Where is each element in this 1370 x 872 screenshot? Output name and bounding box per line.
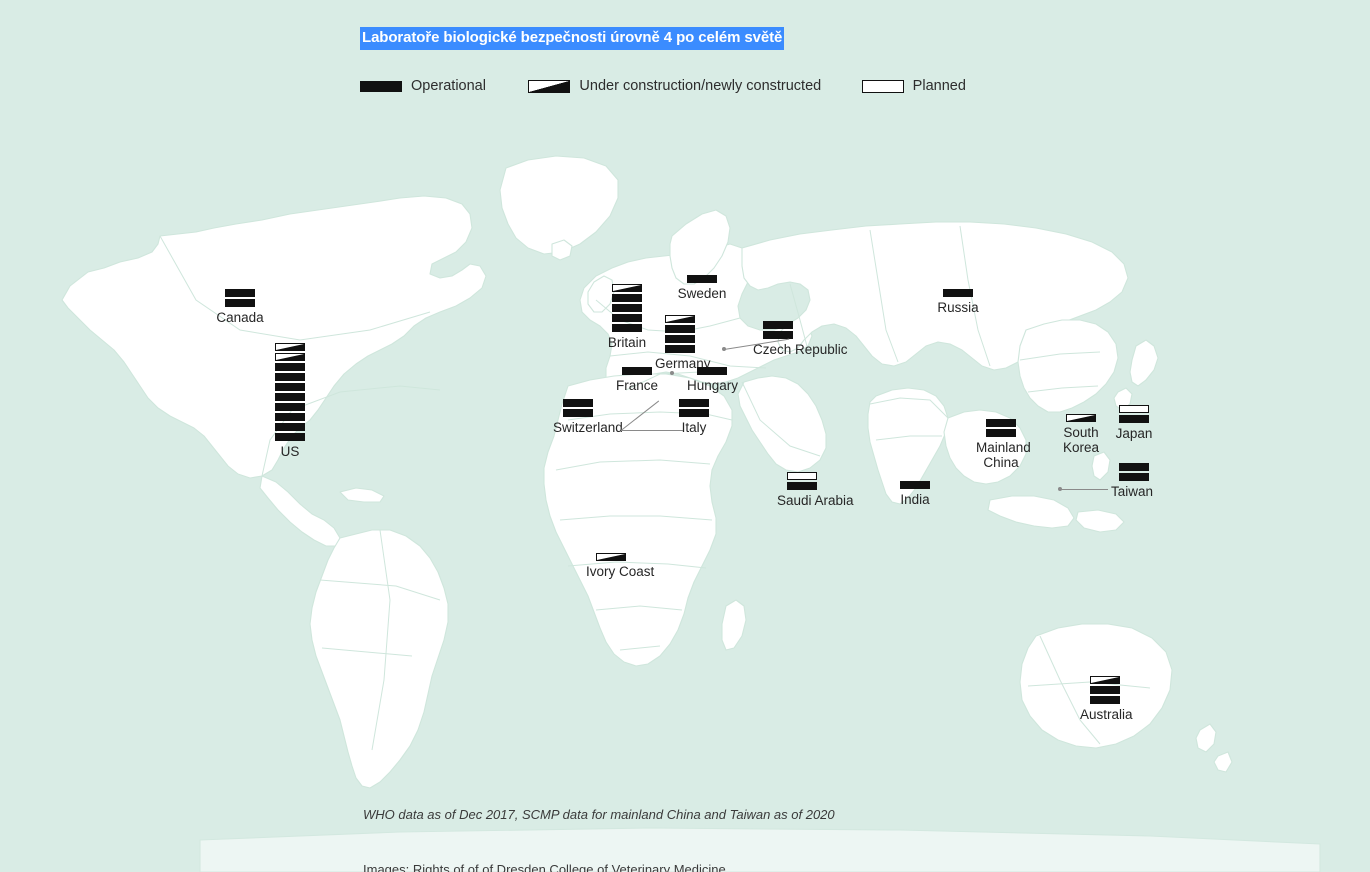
legend-item-operational: Operational	[360, 76, 486, 96]
bar-under-construction	[1066, 414, 1096, 422]
bar-operational	[665, 335, 695, 343]
marker-taiwan-label-wrap: Taiwan	[1111, 481, 1153, 499]
marker-label-czech-republic: Czech Republic	[753, 342, 803, 357]
marker-germany[interactable]: Germany	[655, 315, 705, 371]
bar-operational	[275, 433, 305, 441]
legend: Operational Under construction/newly con…	[360, 76, 966, 96]
operational-swatch-icon	[360, 81, 402, 92]
bars-russia	[933, 289, 983, 297]
bars-italy	[669, 399, 719, 417]
marker-czech-republic[interactable]: Czech Republic	[753, 321, 803, 357]
bars-us	[265, 343, 315, 441]
marker-britain[interactable]: Britain	[602, 284, 652, 350]
bars-mainland-china	[976, 419, 1026, 437]
planned-swatch-icon	[862, 80, 904, 93]
bar-operational	[1119, 473, 1149, 481]
world-map	[0, 0, 1370, 872]
bar-operational	[275, 363, 305, 371]
marker-label-taiwan: Taiwan	[1111, 484, 1153, 499]
marker-mainland-china[interactable]: Mainland China	[976, 419, 1026, 470]
marker-switzerland[interactable]: Switzerland	[553, 399, 603, 435]
marker-india[interactable]: India	[890, 481, 940, 507]
bar-under-construction	[612, 284, 642, 292]
marker-label-south-korea: South Korea	[1056, 425, 1106, 455]
marker-hungary[interactable]: Hungary	[687, 367, 737, 393]
bar-operational	[986, 429, 1016, 437]
legend-item-planned: Planned	[862, 76, 966, 96]
bar-operational	[275, 373, 305, 381]
bar-operational	[697, 367, 727, 375]
bars-ivory-coast	[586, 553, 636, 561]
marker-label-australia: Australia	[1080, 707, 1130, 722]
marker-ivory-coast[interactable]: Ivory Coast	[586, 553, 636, 579]
bars-australia	[1080, 676, 1130, 704]
marker-label-hungary: Hungary	[687, 378, 737, 393]
marker-label-india: India	[890, 492, 940, 507]
bar-operational	[943, 289, 973, 297]
bars-hungary	[687, 367, 737, 375]
marker-label-canada: Canada	[215, 310, 265, 325]
marker-russia[interactable]: Russia	[933, 289, 983, 315]
bars-britain	[602, 284, 652, 332]
title-container: Laboratoře biologické bezpečnosti úrovně…	[360, 27, 784, 50]
marker-label-mainland-china: Mainland China	[976, 440, 1026, 470]
bar-under-construction	[275, 353, 305, 361]
leader-dot-switzerland	[670, 371, 674, 375]
bar-operational	[275, 393, 305, 401]
bar-operational	[275, 403, 305, 411]
bar-operational	[900, 481, 930, 489]
bar-under-construction	[665, 315, 695, 323]
bars-saudi-arabia	[777, 472, 827, 490]
bar-operational	[986, 419, 1016, 427]
footnote-source: WHO data as of Dec 2017, SCMP data for m…	[363, 807, 835, 822]
leader-dot-taiwan	[1058, 487, 1062, 491]
bar-operational	[275, 423, 305, 431]
marker-australia[interactable]: Australia	[1080, 676, 1130, 722]
bar-under-construction	[1090, 676, 1120, 684]
bar-operational	[665, 345, 695, 353]
footer-credit: Images: Rights of of of Dresden College …	[363, 862, 1263, 872]
marker-label-italy: Italy	[669, 420, 719, 435]
bar-operational	[1090, 696, 1120, 704]
bar-operational	[679, 399, 709, 407]
bar-operational	[1119, 415, 1149, 423]
bar-planned	[787, 472, 817, 480]
marker-saudi-arabia[interactable]: Saudi Arabia	[777, 472, 827, 508]
bars-switzerland	[553, 399, 603, 417]
bars-india	[890, 481, 940, 489]
marker-sweden[interactable]: Sweden	[677, 275, 727, 301]
marker-taiwan[interactable]	[1119, 463, 1149, 481]
bar-operational	[275, 413, 305, 421]
bars-sweden	[677, 275, 727, 283]
legend-label-planned: Planned	[913, 76, 966, 96]
bar-operational	[687, 275, 717, 283]
bars-germany	[655, 315, 705, 353]
marker-label-france: France	[612, 378, 662, 393]
bar-operational	[612, 324, 642, 332]
bar-operational	[563, 409, 593, 417]
marker-label-ivory-coast: Ivory Coast	[586, 564, 636, 579]
bar-operational	[1119, 463, 1149, 471]
legend-label-operational: Operational	[411, 76, 486, 96]
legend-item-under-construction: Under construction/newly constructed	[528, 76, 821, 96]
bar-operational	[665, 325, 695, 333]
bars-japan	[1109, 405, 1159, 423]
bar-operational	[787, 482, 817, 490]
marker-label-russia: Russia	[933, 300, 983, 315]
bar-operational	[612, 294, 642, 302]
marker-japan[interactable]: Japan	[1109, 405, 1159, 441]
bars-canada	[215, 289, 265, 307]
bars-france	[612, 367, 662, 375]
bar-operational	[612, 304, 642, 312]
bar-operational	[679, 409, 709, 417]
bars-czech-republic	[753, 321, 803, 339]
bar-operational	[225, 299, 255, 307]
bar-operational	[763, 321, 793, 329]
legend-label-under-construction: Under construction/newly constructed	[579, 76, 821, 96]
leader-dot-czech-republic	[722, 347, 726, 351]
marker-label-britain: Britain	[602, 335, 652, 350]
marker-label-saudi-arabia: Saudi Arabia	[777, 493, 827, 508]
bar-operational	[275, 383, 305, 391]
bars-taiwan	[1119, 463, 1149, 481]
marker-label-us: US	[265, 444, 315, 459]
leader-line-switzerland-horizontal	[621, 430, 683, 431]
marker-label-sweden: Sweden	[677, 286, 727, 301]
marker-us[interactable]: US	[265, 343, 315, 459]
marker-france[interactable]: France	[612, 367, 662, 393]
bar-planned	[1119, 405, 1149, 413]
bar-under-construction	[596, 553, 626, 561]
bar-operational	[225, 289, 255, 297]
marker-label-switzerland: Switzerland	[553, 420, 603, 435]
marker-label-japan: Japan	[1109, 426, 1159, 441]
page-title: Laboratoře biologické bezpečnosti úrovně…	[360, 27, 784, 50]
bar-operational	[1090, 686, 1120, 694]
leader-line-taiwan	[1060, 489, 1108, 490]
under-construction-swatch-icon	[528, 80, 570, 93]
bars-south-korea	[1056, 414, 1106, 422]
bar-under-construction	[275, 343, 305, 351]
bar-operational	[622, 367, 652, 375]
bar-operational	[612, 314, 642, 322]
marker-south-korea[interactable]: South Korea	[1056, 414, 1106, 455]
bar-operational	[563, 399, 593, 407]
marker-canada[interactable]: Canada	[215, 289, 265, 325]
